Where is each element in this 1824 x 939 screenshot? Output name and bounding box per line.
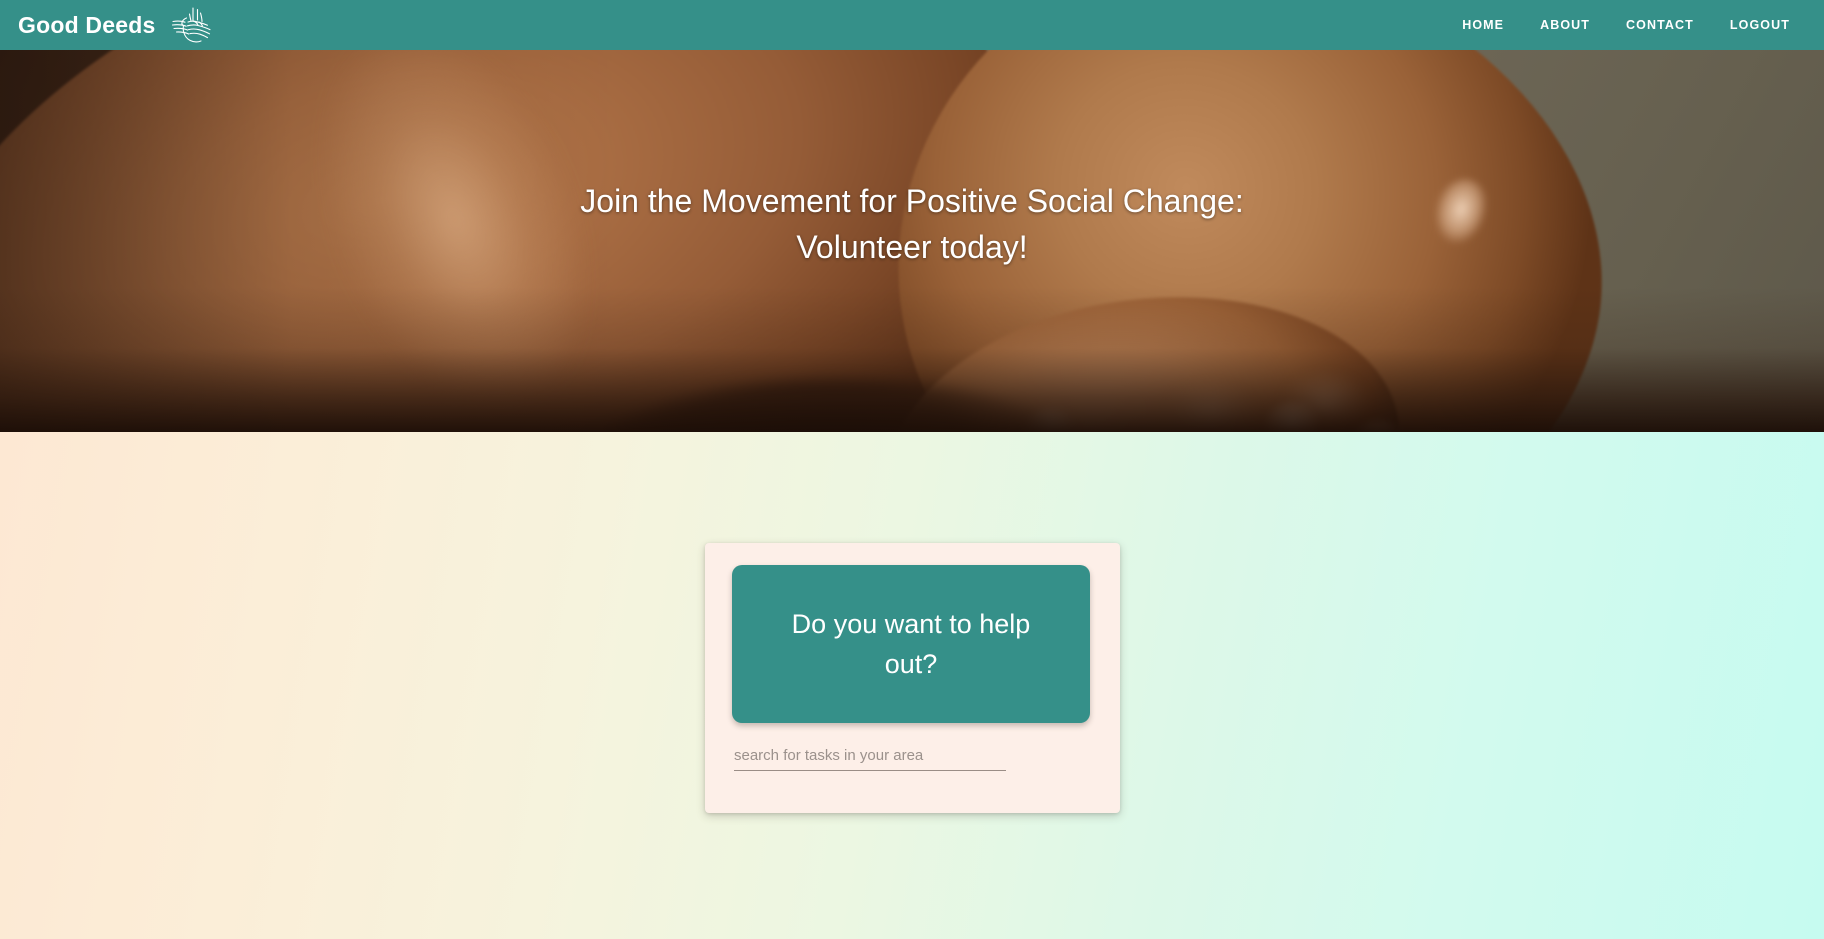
hero-text-block: Join the Movement for Positive Social Ch… — [0, 50, 1824, 432]
search-tasks-input[interactable] — [734, 745, 1006, 771]
hero-banner: Join the Movement for Positive Social Ch… — [0, 50, 1824, 432]
helping-hands-line-art-icon — [169, 5, 215, 45]
hero-heading-line-1: Join the Movement for Positive Social Ch… — [580, 183, 1243, 219]
do-you-want-to-help-out-button[interactable]: Do you want to help out? — [732, 565, 1090, 723]
nav-link-home[interactable]: HOME — [1462, 18, 1504, 32]
help-search-card: Do you want to help out? — [705, 543, 1120, 813]
brand-name: Good Deeds — [18, 14, 155, 37]
hero-heading: Join the Movement for Positive Social Ch… — [580, 178, 1243, 270]
nav-link-about[interactable]: ABOUT — [1540, 18, 1590, 32]
brand-logo-group[interactable]: Good Deeds — [18, 5, 215, 45]
nav-links: HOME ABOUT CONTACT LOGOUT — [1462, 18, 1790, 32]
top-navigation-bar: Good Deeds — [0, 0, 1824, 50]
page-root: Good Deeds — [0, 0, 1824, 939]
nav-link-contact[interactable]: CONTACT — [1626, 18, 1694, 32]
search-row — [732, 745, 1093, 771]
nav-link-logout[interactable]: LOGOUT — [1730, 18, 1790, 32]
hero-heading-line-2: Volunteer today! — [796, 229, 1027, 265]
